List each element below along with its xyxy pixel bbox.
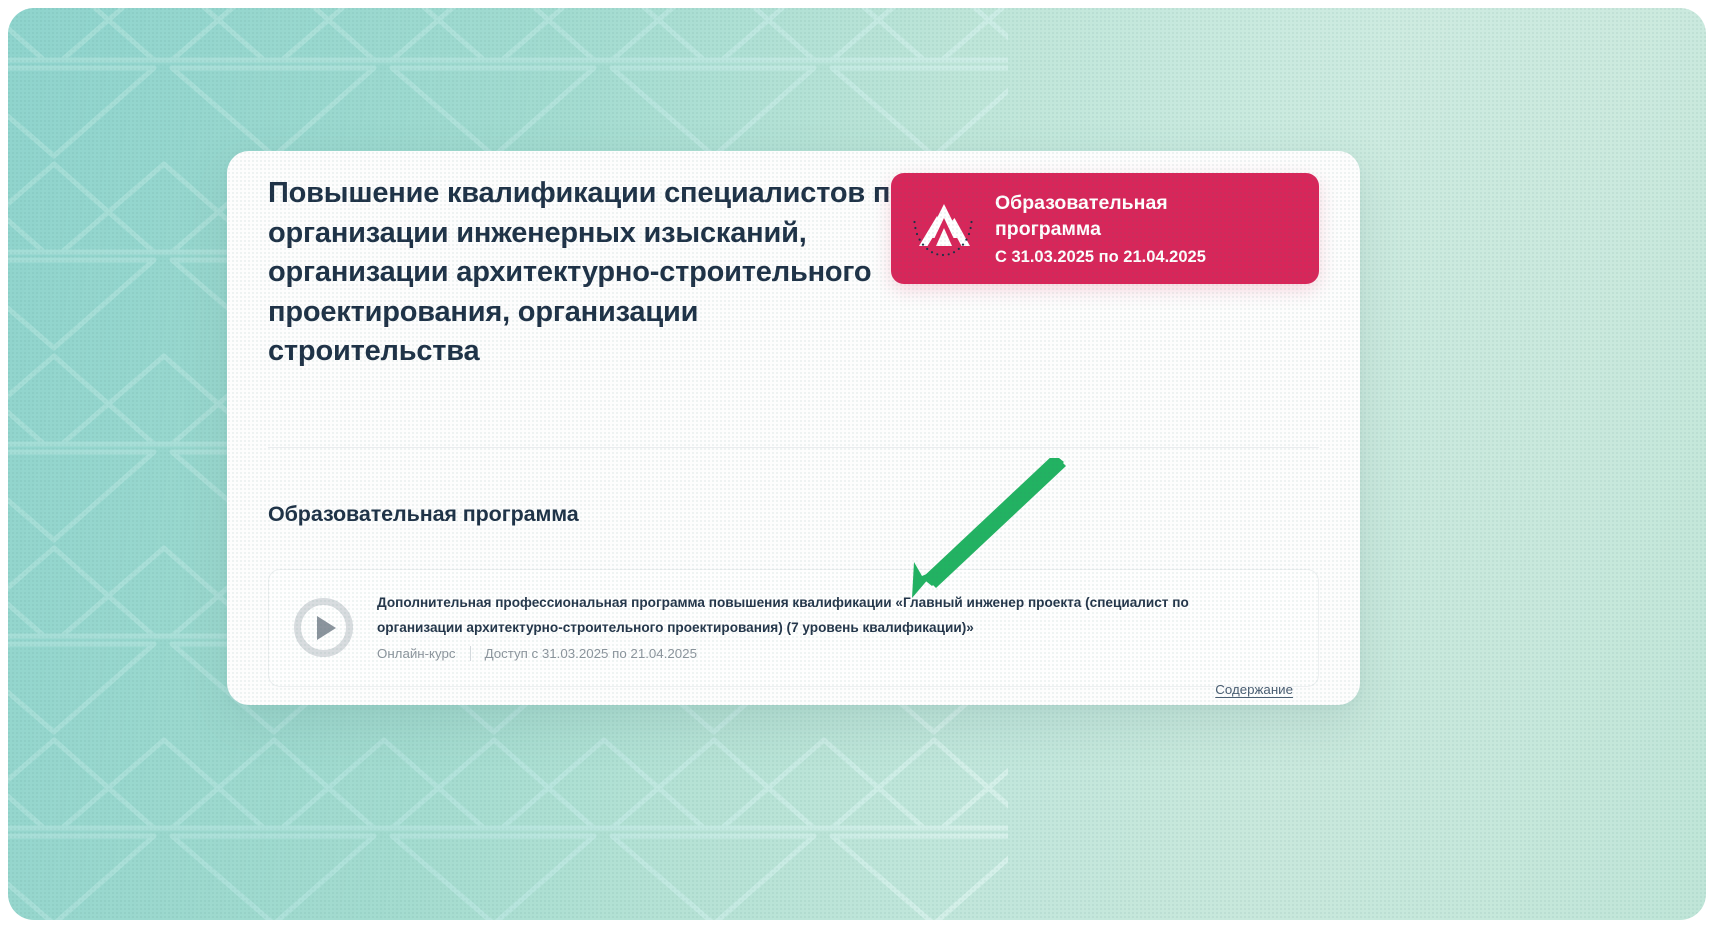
course-body: Дополнительная профессиональная программ…: [377, 590, 1302, 661]
meta-separator: [470, 646, 471, 661]
course-format: Онлайн-курс: [377, 646, 456, 661]
course-content-link[interactable]: Содержание: [1215, 682, 1293, 697]
badge-logo: [891, 173, 995, 284]
badge-label: Образовательная программа: [995, 190, 1245, 242]
course-access: Доступ с 31.03.2025 по 21.04.2025: [485, 646, 697, 661]
program-card: Повышение квалификации специалистов по о…: [227, 151, 1360, 705]
play-icon[interactable]: [294, 598, 353, 657]
badge-dates: С 31.03.2025 по 21.04.2025: [995, 248, 1245, 267]
course-meta: Онлайн-курс Доступ с 31.03.2025 по 21.04…: [377, 646, 1302, 661]
play-triangle: [317, 616, 336, 640]
screenshot-root: Повышение квалификации специалистов по о…: [0, 0, 1714, 928]
course-title: Дополнительная профессиональная программ…: [377, 590, 1199, 640]
page-title: Повышение квалификации специалистов по о…: [268, 174, 908, 372]
badge-text: Образовательная программа С 31.03.2025 п…: [995, 190, 1257, 267]
section-divider: [268, 447, 1319, 448]
course-item-panel[interactable]: Дополнительная профессиональная программ…: [268, 569, 1319, 687]
section-heading: Образовательная программа: [268, 502, 579, 527]
mountain-logo-icon: [913, 196, 975, 262]
page-viewport: Повышение квалификации специалистов по о…: [8, 8, 1706, 920]
status-badge: Образовательная программа С 31.03.2025 п…: [891, 173, 1319, 284]
